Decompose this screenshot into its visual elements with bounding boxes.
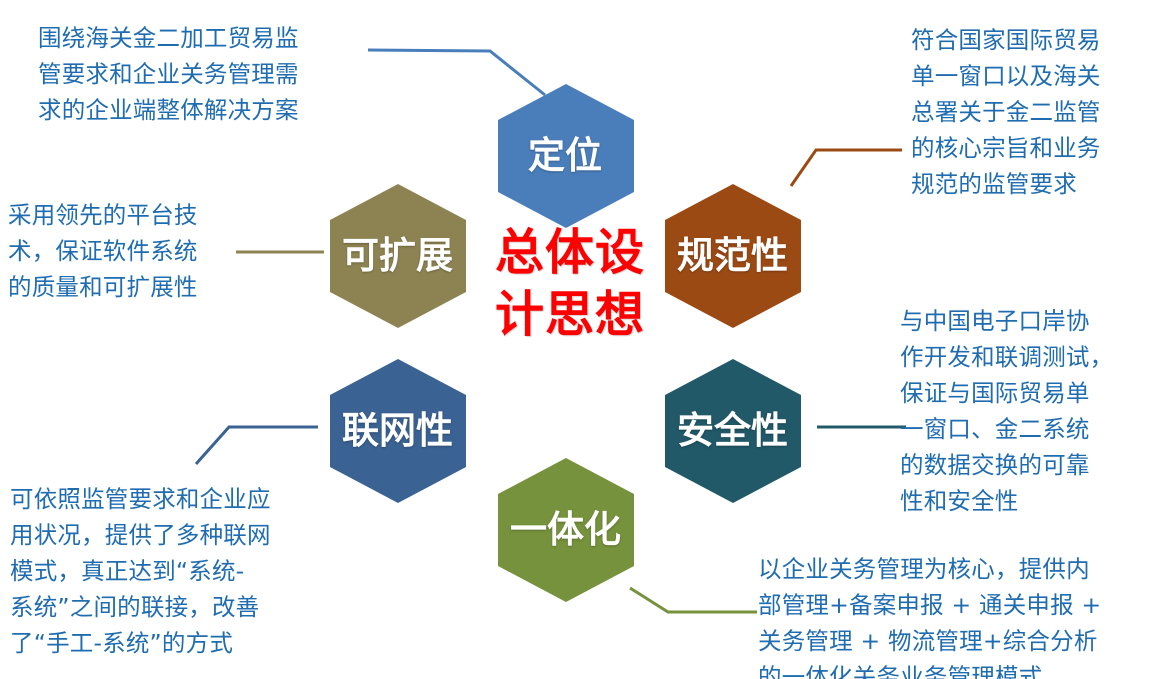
connector-positioning — [368, 50, 545, 95]
center-title: 总体设计思想 — [495, 222, 645, 346]
note-integration: 以企业关务管理为核心，提供内 部管理+备案申报 + 通关申报 + 关务管理 + … — [758, 551, 1161, 679]
hexagon-standardization[interactable] — [665, 184, 801, 328]
hexagon-positioning[interactable] — [498, 84, 634, 228]
note-networking: 可依照监管要求和企业应 用状况，提供了多种联网 模式，真正达到“系统- 系统”之… — [10, 481, 340, 661]
hexagon-security[interactable] — [665, 359, 801, 503]
note-extensibility: 采用领先的平台技 术，保证软件系统 的质量和可扩展性 — [8, 197, 248, 305]
note-positioning: 围绕海关金二加工贸易监 管要求和企业关务管理需 求的企业端整体解决方案 — [38, 20, 358, 128]
note-standardization: 符合国家国际贸易 单一窗口以及海关 总署关于金二监管 的核心宗旨和业务 规范的监… — [911, 22, 1161, 202]
hexagon-extensibility[interactable] — [330, 184, 466, 328]
connector-standardization — [791, 150, 902, 186]
hexagon-integration[interactable] — [498, 458, 634, 602]
connector-integration — [630, 588, 757, 612]
hexagon-networking[interactable] — [330, 359, 466, 503]
note-security: 与中国电子口岸协 作开发和联调测试， 保证与国际贸易单 一窗口、金二系统 的数据… — [900, 303, 1160, 519]
connector-networking — [196, 427, 318, 464]
design-philosophy-diagram: 定位 规范性 可扩展 联网性 安全性 一体化 总体设计思想 围绕海关金二加工贸易… — [0, 0, 1161, 679]
